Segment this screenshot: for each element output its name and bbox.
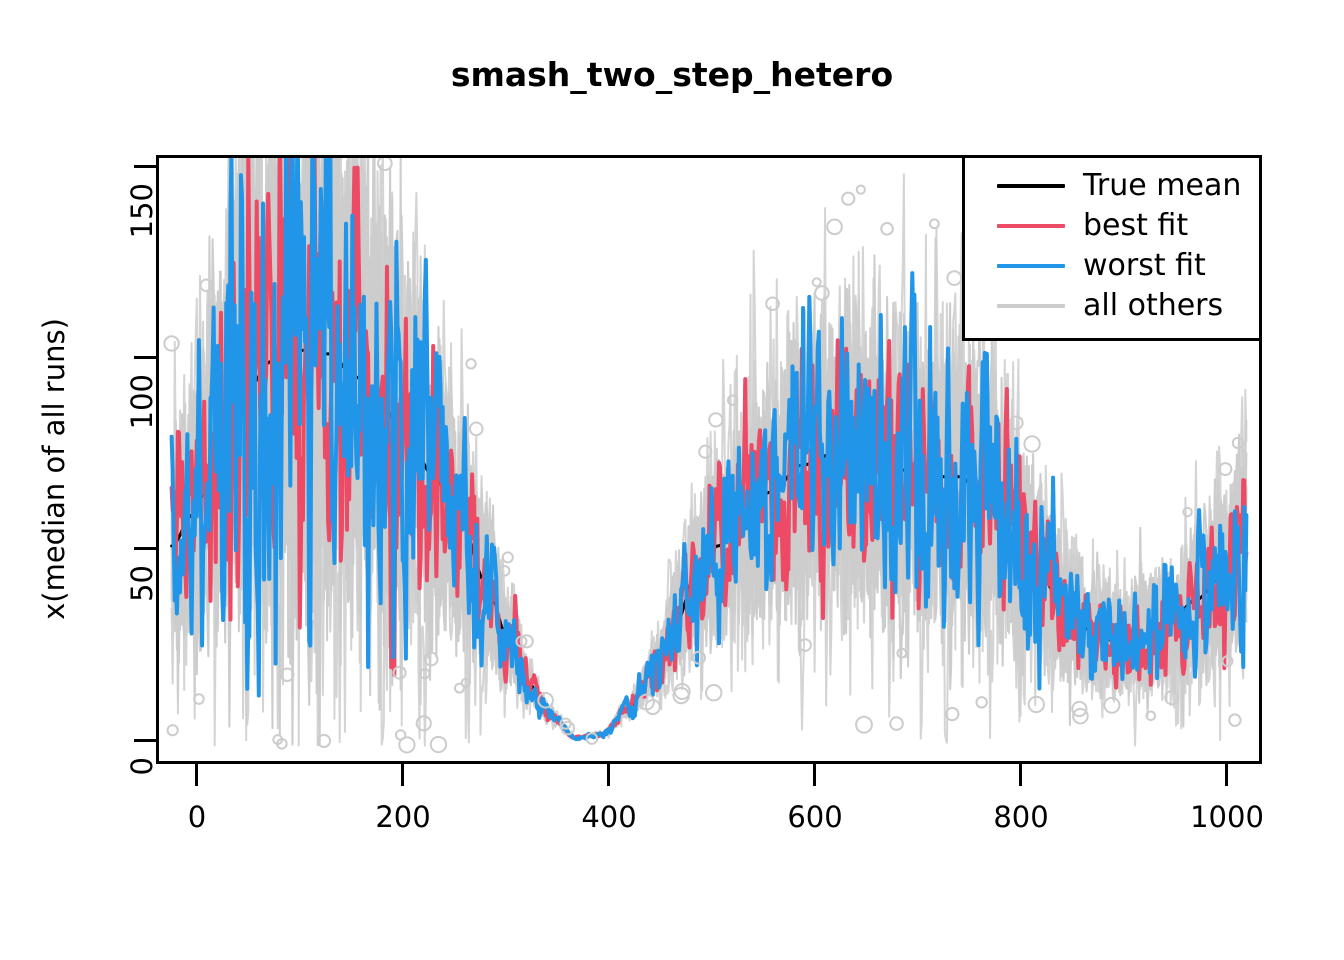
x-tick-label-600: 600 — [755, 800, 875, 834]
legend-label-true-mean: True mean — [1083, 171, 1241, 201]
legend-item-worst-fit: worst fit — [965, 246, 1265, 286]
y-tick-label-50: 50 — [125, 565, 159, 655]
y-axis-label: x(median of all runs) — [37, 189, 71, 749]
x-tick-label-1000: 1000 — [1167, 800, 1287, 834]
y-tick-label-100: 100 — [125, 374, 159, 464]
x-tick-mark-800 — [1019, 764, 1022, 786]
legend-label-worst-fit: worst fit — [1083, 251, 1206, 281]
legend-swatch-best-fit — [997, 224, 1065, 228]
y-tick-mark-0 — [134, 739, 156, 742]
x-tick-label-800: 800 — [961, 800, 1081, 834]
y-tick-label-150: 150 — [125, 183, 159, 273]
x-tick-mark-600 — [813, 764, 816, 786]
page-title: smash_two_step_hetero — [0, 55, 1344, 94]
x-tick-mark-200 — [401, 764, 404, 786]
legend-item-true-mean: True mean — [965, 166, 1265, 206]
x-tick-label-0: 0 — [137, 800, 257, 834]
legend-item-all-others: all others — [965, 286, 1265, 326]
chart-page: smash_two_step_hetero x(median of all ru… — [0, 0, 1344, 960]
legend-label-best-fit: best fit — [1083, 211, 1188, 241]
y-tick-mark-150 — [134, 165, 156, 168]
x-tick-label-200: 200 — [343, 800, 463, 834]
legend-swatch-true-mean — [997, 184, 1065, 188]
x-tick-mark-0 — [195, 764, 198, 786]
legend-swatch-worst-fit — [997, 264, 1065, 268]
x-tick-label-400: 400 — [549, 800, 669, 834]
chart-legend: True mean best fit worst fit all others — [962, 155, 1262, 341]
y-tick-mark-100 — [134, 356, 156, 359]
x-tick-mark-400 — [607, 764, 610, 786]
legend-swatch-all-others — [997, 304, 1065, 308]
legend-item-best-fit: best fit — [965, 206, 1265, 246]
y-tick-mark-50 — [134, 547, 156, 550]
x-tick-mark-1000 — [1225, 764, 1228, 786]
legend-label-all-others: all others — [1083, 291, 1223, 321]
